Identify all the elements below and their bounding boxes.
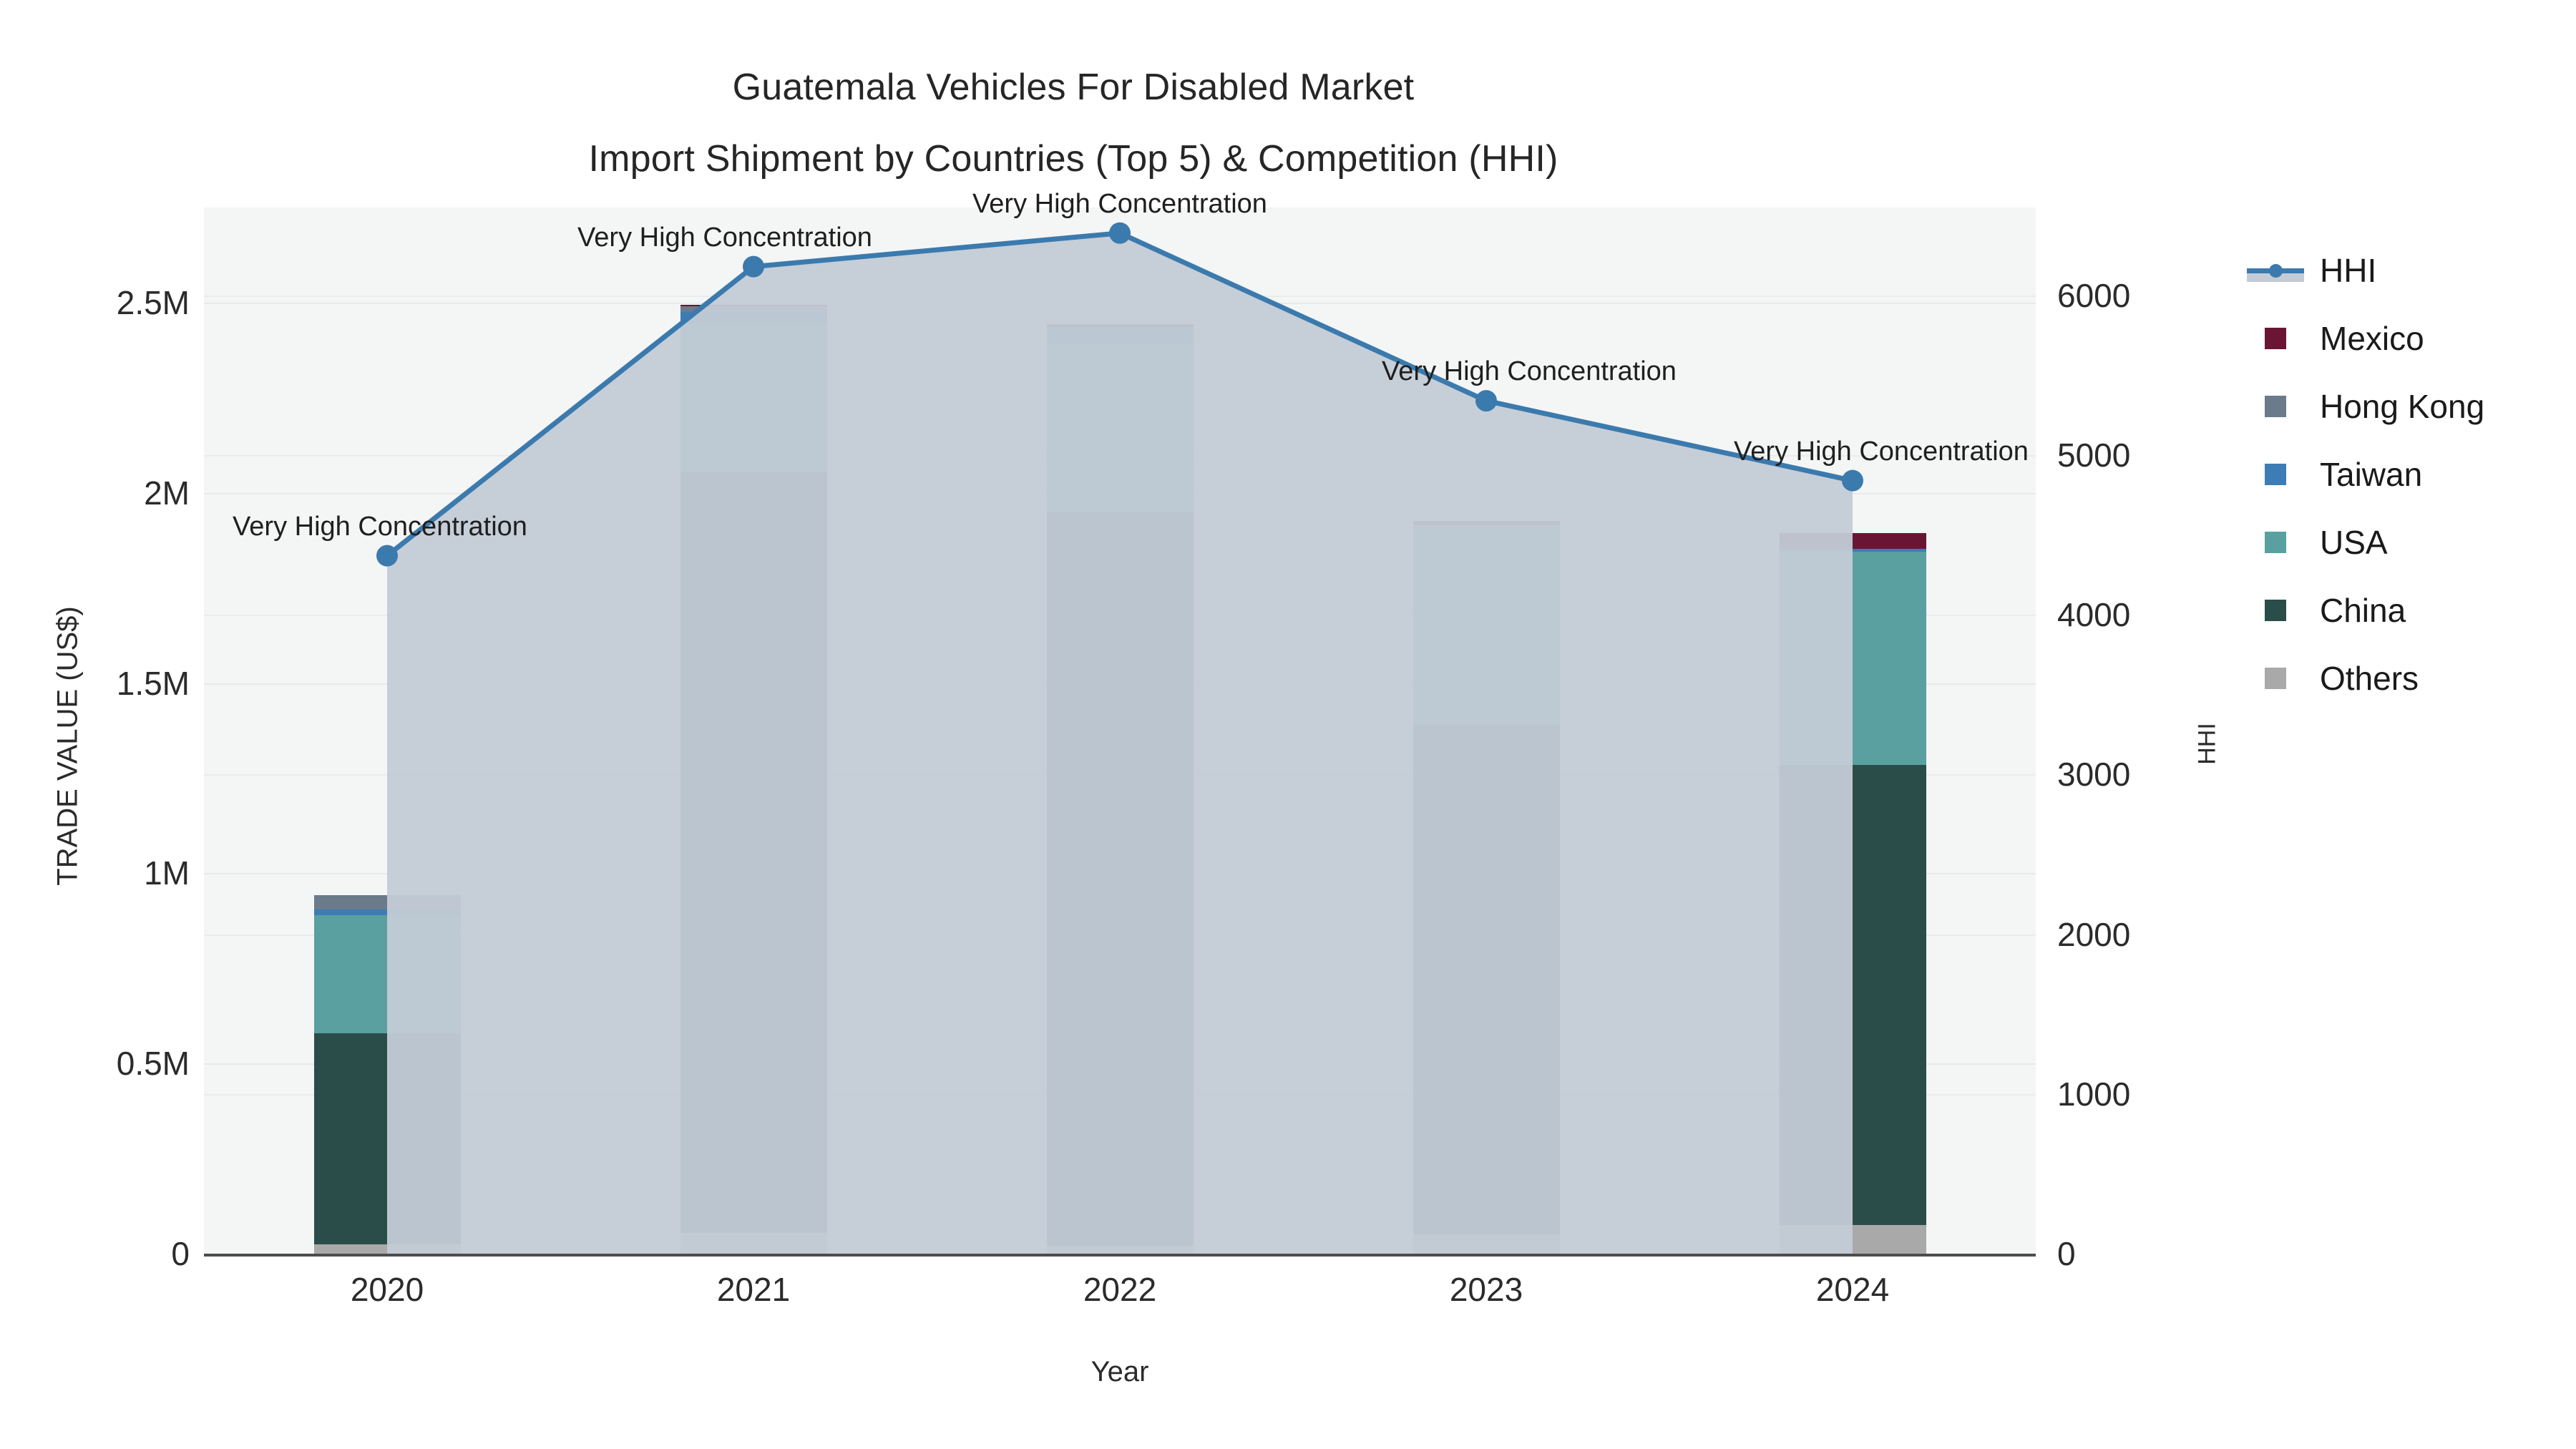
legend-color-swatch [2265, 600, 2286, 621]
annotation-2022: Very High Concentration [972, 189, 1267, 220]
legend-label: China [2320, 594, 2406, 627]
bar-segment-usa-2022[interactable] [1047, 344, 1194, 512]
legend-color-swatch [2265, 464, 2286, 485]
chart-title: Guatemala Vehicles For Disabled Market [0, 52, 2147, 123]
bar-segment-mexico-2021[interactable] [680, 305, 827, 307]
bar-segment-china-2022[interactable] [1047, 512, 1194, 1246]
y-right-tick-1: 1000 [2057, 1075, 2130, 1113]
legend-item-mexico[interactable]: Mexico [2247, 304, 2555, 372]
bar-segment-hong-kong-2021[interactable] [680, 306, 827, 312]
bar-group-2022[interactable] [1047, 208, 1194, 1254]
y-right-tick-6: 6000 [2057, 276, 2130, 315]
x-tick-2020: 2020 [351, 1270, 424, 1309]
legend-color-swatch [2265, 328, 2286, 349]
x-tick-2021: 2021 [717, 1270, 790, 1309]
bar-segment-taiwan-2021[interactable] [680, 312, 827, 323]
legend-swatch-icon [2247, 595, 2304, 626]
legend-line-icon [2247, 255, 2304, 286]
bar-segment-taiwan-2022[interactable] [1047, 327, 1194, 344]
y-left-tick-5: 2.5M [0, 283, 190, 322]
bar-segment-usa-2023[interactable] [1413, 525, 1560, 725]
legend-item-hong-kong[interactable]: Hong Kong [2247, 372, 2555, 440]
x-axis-line [204, 1254, 2036, 1257]
chart-legend: HHIMexicoHong KongTaiwanUSAChinaOthers [2247, 236, 2555, 712]
legend-color-swatch [2265, 396, 2286, 417]
legend-label: HHI [2320, 254, 2376, 287]
y-right-tick-3: 3000 [2057, 755, 2130, 794]
bar-segment-china-2024[interactable] [1780, 765, 1926, 1225]
y-left-tick-1: 0.5M [0, 1044, 190, 1083]
bar-segment-mexico-2024[interactable] [1780, 533, 1926, 549]
bar-segment-usa-2024[interactable] [1780, 552, 1926, 765]
legend-color-swatch [2265, 532, 2286, 553]
bar-segment-china-2023[interactable] [1413, 725, 1560, 1234]
y-axis-left-label: TRADE VALUE (US$) [52, 496, 84, 997]
x-tick-2022: 2022 [1083, 1270, 1156, 1309]
legend-label: USA [2320, 526, 2388, 559]
bar-group-2021[interactable] [680, 208, 827, 1254]
legend-label: Mexico [2320, 322, 2424, 355]
y-right-tick-0: 0 [2057, 1234, 2076, 1273]
chart-title-block: Guatemala Vehicles For Disabled Market I… [0, 52, 2147, 195]
plot-clip [204, 208, 2036, 1254]
legend-item-taiwan[interactable]: Taiwan [2247, 440, 2555, 508]
x-tick-2024: 2024 [1816, 1270, 1889, 1309]
y-right-tick-2: 2000 [2057, 915, 2130, 954]
bar-segment-others-2021[interactable] [680, 1233, 827, 1254]
x-tick-2023: 2023 [1450, 1270, 1523, 1309]
chart-subtitle: Import Shipment by Countries (Top 5) & C… [0, 123, 2147, 195]
annotation-2023: Very High Concentration [1382, 356, 1677, 387]
bar-segment-taiwan-2024[interactable] [1780, 549, 1926, 552]
bar-group-2024[interactable] [1780, 208, 1926, 1254]
legend-swatch-icon [2247, 663, 2304, 694]
bar-segment-mexico-2023[interactable] [1413, 521, 1560, 525]
legend-swatch-icon [2247, 391, 2304, 422]
bar-segment-usa-2020[interactable] [314, 915, 461, 1033]
legend-label: Hong Kong [2320, 390, 2484, 423]
chart-figure: Guatemala Vehicles For Disabled Market I… [0, 0, 2576, 1449]
bar-segment-taiwan-2020[interactable] [314, 909, 461, 915]
plot-area [204, 208, 2036, 1254]
bar-segment-others-2020[interactable] [314, 1244, 461, 1254]
legend-swatch-icon [2247, 323, 2304, 354]
legend-color-swatch [2265, 668, 2286, 689]
bar-segment-others-2022[interactable] [1047, 1246, 1194, 1254]
bar-segment-mexico-2022[interactable] [1047, 324, 1194, 327]
bar-segment-others-2023[interactable] [1413, 1234, 1560, 1254]
bar-group-2020[interactable] [314, 208, 461, 1254]
bar-segment-china-2020[interactable] [314, 1033, 461, 1244]
y-left-tick-4: 2M [0, 474, 190, 512]
y-right-tick-4: 4000 [2057, 595, 2130, 634]
bar-segment-hong-kong-2020[interactable] [314, 895, 461, 909]
y-left-tick-3: 1.5M [0, 664, 190, 703]
annotation-2021: Very High Concentration [577, 223, 872, 253]
legend-item-china[interactable]: China [2247, 576, 2555, 644]
annotation-2020: Very High Concentration [233, 512, 527, 542]
x-axis-label: Year [204, 1356, 2036, 1388]
bar-segment-china-2021[interactable] [680, 472, 827, 1233]
bar-segment-others-2024[interactable] [1780, 1225, 1926, 1254]
annotation-2024: Very High Concentration [1734, 436, 2029, 467]
legend-label: Others [2320, 662, 2419, 695]
legend-dot-icon [2269, 264, 2283, 278]
legend-swatch-icon [2247, 527, 2304, 558]
legend-item-others[interactable]: Others [2247, 644, 2555, 712]
y-right-tick-5: 5000 [2057, 436, 2130, 474]
legend-item-usa[interactable]: USA [2247, 508, 2555, 576]
y-axis-right-label: HHI [2194, 651, 2222, 837]
legend-label: Taiwan [2320, 458, 2422, 491]
bar-segment-usa-2021[interactable] [680, 323, 827, 472]
y-left-tick-2: 1M [0, 854, 190, 892]
y-left-tick-0: 0 [0, 1234, 190, 1273]
legend-item-hhi[interactable]: HHI [2247, 236, 2555, 304]
legend-swatch-icon [2247, 459, 2304, 490]
